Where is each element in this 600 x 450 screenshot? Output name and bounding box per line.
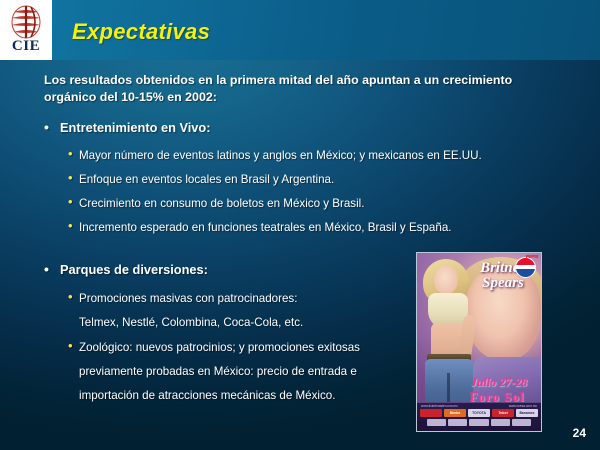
section-heading-parques: Parques de diversiones: <box>44 262 208 277</box>
sponsor-logo <box>427 419 446 426</box>
pepsi-logo-icon <box>515 257 536 278</box>
logo-label: CIE <box>0 38 52 55</box>
poster-date: Julio 27-28 <box>457 375 541 390</box>
section-heading-entretenimiento: Entretenimiento en Vivo: <box>44 120 211 135</box>
sponsor-logo-row-secondary <box>427 419 531 426</box>
sponsor-logo: Banamex <box>516 409 538 417</box>
list-item: Promociones masivas con patrocinadores: <box>68 291 297 306</box>
pepsi-wordmark: PEPSI <box>526 254 538 259</box>
sponsor-logo <box>491 419 510 426</box>
page-title: Expectativas <box>72 19 210 45</box>
list-item: Enfoque en eventos locales en Brasil y A… <box>68 172 334 187</box>
sponsor-logo: Telcel <box>492 409 514 417</box>
list-item-continuation: importación de atracciones mecánicas de … <box>79 388 335 403</box>
poster-figure-face <box>434 266 458 294</box>
sponsor-logo: Bimbo <box>444 409 466 417</box>
list-item-continuation: Telmex, Nestlé, Colombina, Coca-Cola, et… <box>79 315 303 330</box>
list-item: Zoológico: nuevos patrocinios; y promoci… <box>68 340 360 355</box>
concert-poster-image: Britney Spears PEPSI Julio 27-28 Foro So… <box>416 252 542 432</box>
poster-url-left: www.ticketmaster.com.mx <box>421 404 458 408</box>
presentation-slide: CIE Expectativas Los resultados obtenido… <box>0 0 600 450</box>
list-item: Mayor número de eventos latinos y anglos… <box>68 148 482 163</box>
sponsor-logo <box>420 409 442 417</box>
poster-sponsor-strip: www.ticketmaster.com.mx www.ocesa.com.mx… <box>417 402 541 431</box>
intro-paragraph: Los resultados obtenidos en la primera m… <box>44 72 564 106</box>
page-number: 24 <box>573 426 586 440</box>
sponsor-logo <box>512 419 531 426</box>
list-item-continuation: previamente probadas en México: precio d… <box>79 364 357 379</box>
globe-logo-icon <box>9 5 43 39</box>
poster-artist-line2: Spears <box>467 276 539 291</box>
sponsor-logo: TOYOTA <box>468 409 490 417</box>
sponsor-logo <box>448 419 467 426</box>
sponsor-logo <box>469 419 488 426</box>
cie-logo: CIE <box>0 0 52 60</box>
poster-url-right: www.ocesa.com.mx <box>509 404 537 408</box>
sponsor-logo-row: Bimbo TOYOTA Telcel Banamex <box>420 409 538 417</box>
list-item: Crecimiento en consumo de boletos en Méx… <box>68 196 364 211</box>
list-item: Incremento esperado en funciones teatral… <box>68 220 452 235</box>
